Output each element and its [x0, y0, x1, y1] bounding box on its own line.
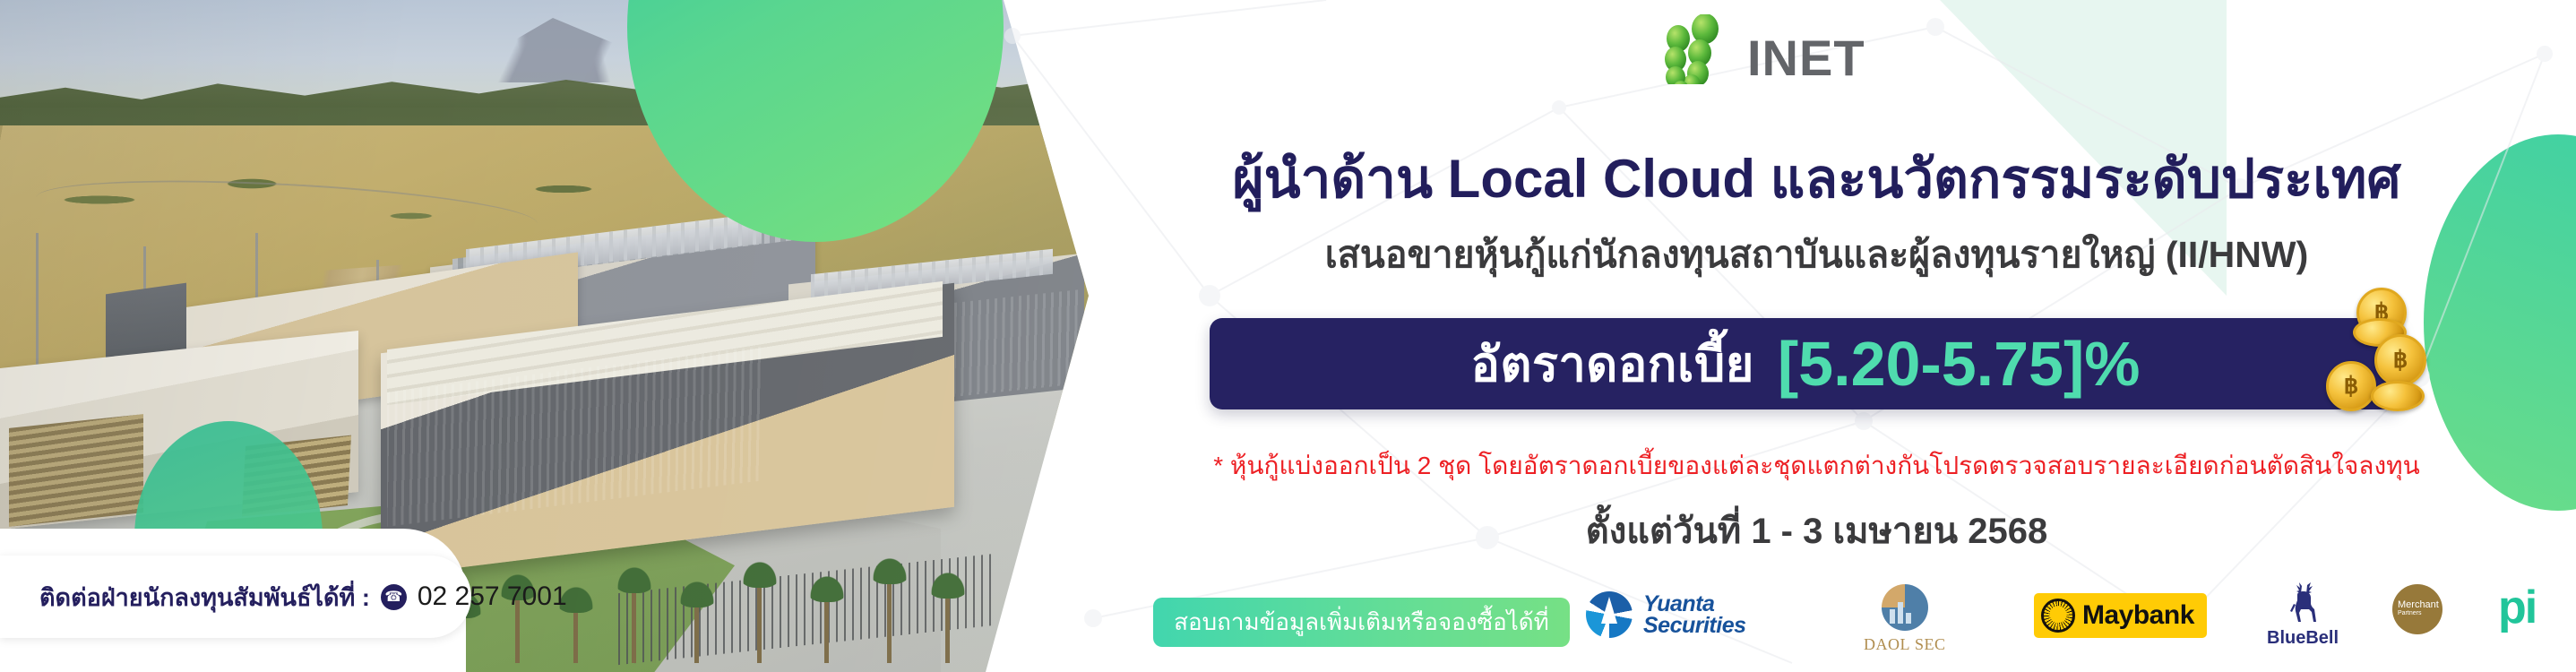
partner-logo-pi[interactable]: pi: [2498, 590, 2536, 627]
interest-rate-value: [5.20-5.75]%: [1778, 328, 2141, 400]
partner-logo-daolsec[interactable]: DAOL SEC: [1864, 584, 1946, 654]
daol-wordmark: DAOL SEC: [1864, 635, 1946, 654]
inet-logo-dots-icon: [1613, 14, 1747, 84]
inet-logo: INET: [1613, 14, 1953, 84]
inet-bond-offering-banner: INET ผู้นำด้าน Local Cloud และนวัตกรรมระ…: [0, 0, 2576, 672]
investor-relations-contact: ติดต่อฝ่ายนักลงทุนสัมพันธ์ได้ที่ : ☎ 02 …: [0, 556, 471, 638]
offering-dates: ตั้งแต่วันที่ 1 - 3 เมษายน 2568: [1057, 502, 2576, 559]
merchant-line1: Merchant: [2398, 600, 2439, 610]
partner-logo-maybank[interactable]: Maybank: [2034, 593, 2207, 638]
pi-wordmark: pi: [2498, 590, 2536, 627]
daol-primary: DAOL: [1864, 635, 1910, 653]
merchant-line2: Partners: [2398, 610, 2421, 617]
yuanta-line2: Securities: [1643, 615, 1746, 637]
interest-rate-label: อัตราดอกเบี้ย: [1470, 325, 1753, 402]
bitcoin-coin-stack-icon: ฿ ฿ ฿: [2319, 288, 2453, 438]
partner-logo-bluebell[interactable]: BlueBell: [2267, 582, 2339, 649]
subheadline: เสนอขายหุ้นกู้แก่นักลงทุนสถาบันและผู้ลงท…: [1057, 226, 2576, 284]
contact-label: ติดต่อฝ่ายนักลงทุนสัมพันธ์ได้ที่ :: [39, 578, 370, 616]
disclaimer-note: * หุ้นกู้แบ่งออกเป็น 2 ชุด โดยอัตราดอกเบ…: [1057, 446, 2576, 486]
bitcoin-coin: ฿: [2326, 361, 2376, 411]
phone-icon: ☎: [381, 584, 407, 610]
content-column: INET ผู้นำด้าน Local Cloud และนวัตกรรมระ…: [1057, 0, 2576, 672]
yuanta-wordmark: Yuanta Securities: [1643, 593, 1746, 637]
daol-mark-icon: [1882, 584, 1928, 631]
maybank-badge: Maybank: [2034, 593, 2207, 638]
interest-rate-box: อัตราดอกเบี้ย [5.20-5.75]% ฿ ฿ ฿: [1210, 318, 2401, 409]
bitcoin-coin: ฿: [2374, 334, 2426, 386]
subscribe-inquiry-button[interactable]: สอบถามข้อมูลเพิ่มเติมหรือจองซื้อได้ที่: [1153, 598, 1570, 647]
partner-logos-row: Yuanta Securities DAOL SEC Maybank: [1586, 582, 2576, 672]
headline: ผู้นำด้าน Local Cloud และนวัตกรรมระดับปร…: [1057, 151, 2576, 207]
daol-secondary: SEC: [1915, 635, 1946, 653]
yuanta-line1: Yuanta: [1643, 593, 1746, 616]
contact-phone-number[interactable]: 02 257 7001: [418, 582, 567, 612]
maybank-wordmark: Maybank: [2082, 600, 2194, 631]
partner-logo-yuanta[interactable]: Yuanta Securities: [1586, 591, 1746, 638]
bluebell-wordmark: BlueBell: [2267, 628, 2339, 649]
inet-logo-wordmark: INET: [1747, 29, 1865, 87]
coin-edge: [2371, 381, 2425, 411]
partner-logo-merchant-partners[interactable]: Merchant Partners: [2392, 584, 2442, 634]
yuanta-mark-icon: [1586, 591, 1633, 638]
merchant-partners-badge: Merchant Partners: [2392, 584, 2442, 634]
maybank-tiger-icon: [2041, 599, 2075, 633]
bluebell-deer-icon: [2282, 582, 2323, 625]
